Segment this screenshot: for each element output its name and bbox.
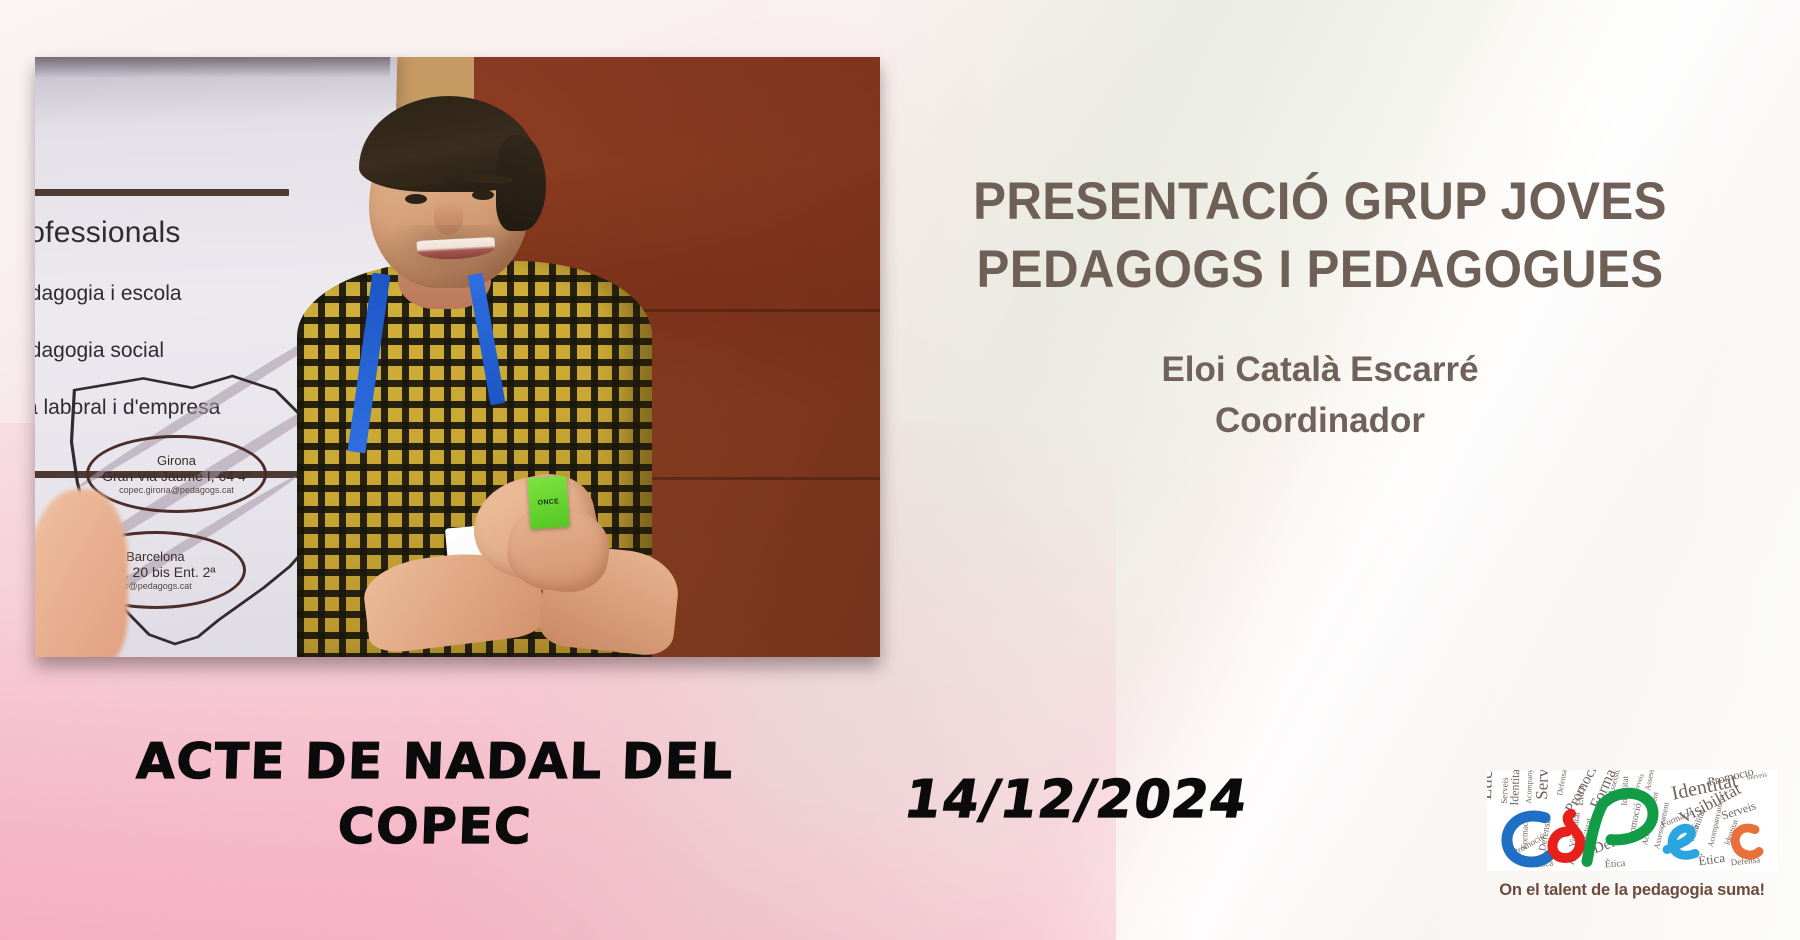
copec-logo-wordcloud: Ètica Serveis Identitat Acompanyament Se… — [1487, 770, 1777, 871]
photo-person-nose — [434, 201, 463, 235]
svg-text:Serveis: Serveis — [1532, 770, 1553, 800]
event-date: 14/12/2024 — [900, 770, 1252, 830]
photo-banner-line-1: edagogia i escola — [35, 282, 182, 306]
photo-banner-rule-top — [35, 189, 289, 196]
presenter-block: Eloi Català Escarré Coordinador — [900, 345, 1740, 447]
photo-person-eye — [405, 194, 427, 204]
svg-text:Ètica: Ètica — [1604, 857, 1626, 870]
page-title: PRESENTACIÓ GRUP JOVES PEDAGOGS I PEDAGO… — [900, 168, 1740, 304]
event-photo: rofessionals edagogia i escola edagogia … — [35, 57, 880, 657]
photo-office-girona: Girona Gran Via Jaume I, 64 4ª copec.gir… — [86, 435, 268, 513]
photo-rollup-top-shadow — [35, 57, 390, 78]
svg-text:Defensa: Defensa — [1555, 770, 1569, 796]
photo-office-city: Girona — [157, 453, 196, 468]
photo-once-ticket-label: ONCE — [538, 498, 560, 506]
svg-text:Identitat: Identitat — [1507, 770, 1522, 806]
svg-text:Ètica: Ètica — [1487, 770, 1496, 800]
title-line-1: PRESENTACIÓ GRUP JOVES — [929, 168, 1710, 236]
presenter-role: Coordinador — [900, 396, 1740, 447]
copec-logo: Ètica Serveis Identitat Acompanyament Se… — [1487, 770, 1777, 900]
photo-banner-line-2: edagogia social — [35, 339, 164, 363]
photo-office-email: copec.girona@pedagogs.cat — [119, 485, 234, 496]
svg-text:Ètica: Ètica — [1574, 784, 1587, 805]
copec-logo-tagline: On el talent de la pedagogia suma! — [1487, 881, 1777, 900]
event-title: ACTE DE NADAL DEL COPEC — [40, 730, 830, 859]
photo-office-city: Barcelona — [126, 549, 185, 564]
event-title-line-2: COPEC — [31, 795, 839, 860]
svg-text:Assessorament: Assessorament — [1643, 770, 1660, 791]
photo-foreground-person — [35, 489, 128, 657]
svg-text:Ètica: Ètica — [1697, 850, 1726, 869]
presenter-name: Eloi Català Escarré — [900, 345, 1740, 396]
photo-office-address: Gran Via Jaume I, 64 4ª — [102, 468, 251, 485]
slide-canvas: rofessionals edagogia i escola edagogia … — [0, 0, 1800, 940]
photo-banner-heading: rofessionals — [35, 216, 181, 250]
photo-once-ticket: ONCE — [528, 476, 570, 530]
title-line-2: PEDAGOGS I PEDAGOGUES — [929, 236, 1710, 304]
photo-office-email: ec@pedagogs.cat — [119, 581, 192, 592]
event-title-line-1: ACTE DE NADAL DEL — [31, 730, 839, 795]
